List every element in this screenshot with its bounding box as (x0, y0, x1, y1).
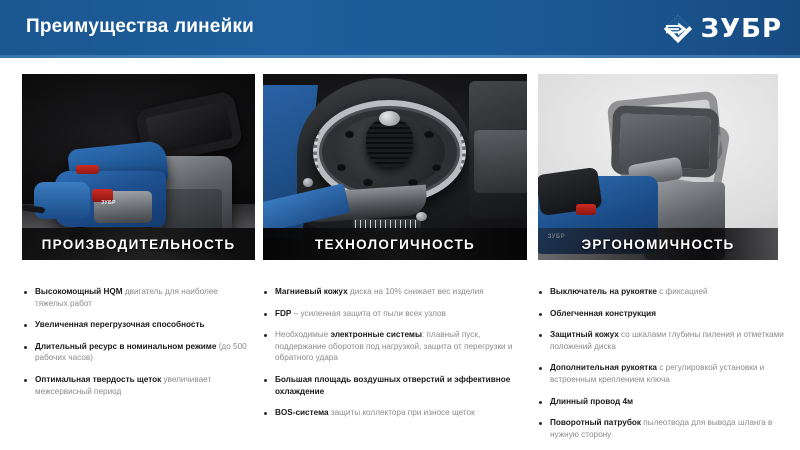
feature-bullet: Длительный ресурс в номинальном режиме (… (24, 341, 249, 364)
feature-panel-ergonomics: ЗУБР ЭРГОНОМИЧНОСТЬ (538, 74, 778, 260)
feature-bullet: Облегченная конструкция (539, 308, 789, 320)
feature-bullet-text: Магниевый кожух диска на 10% снижает вес… (275, 286, 524, 298)
page-title: Преимущества линейки (26, 16, 254, 38)
feature-bullet: Увеличенная перегрузочная способность (24, 319, 249, 331)
panel-caption-performance: ПРОИЗВОДИТЕЛЬНОСТЬ (22, 228, 255, 260)
feature-bullet-strong: Дополнительная рукоятка (550, 363, 657, 372)
feature-bullet-strong: Оптимальная твердость щеток (35, 375, 161, 384)
feature-bullet: Дополнительная рукоятка с регулировкой у… (539, 362, 789, 385)
feature-bullet-strong: FDP (275, 309, 291, 318)
feature-bullet-strong: Магниевый кожух (275, 287, 348, 296)
feature-bullet-text: Увеличенная перегрузочная способность (35, 319, 249, 331)
feature-bullet-text: Дополнительная рукоятка с регулировкой у… (550, 362, 789, 385)
panel-caption-technology: ТЕХНОЛОГИЧНОСТЬ (263, 228, 527, 260)
feature-bullet-text: Облегченная конструкция (550, 308, 789, 320)
feature-bullet: Защитный кожух со шкалами глубины пилени… (539, 329, 789, 352)
feature-bullet-text: Высокомощный HQM двигатель для наиболее … (35, 286, 249, 309)
feature-bullet-text: Большая площадь воздушных отверстий и эф… (275, 374, 524, 397)
feature-bullet: Поворотный патрубок пылеотвода для вывод… (539, 417, 789, 440)
feature-bullet-strong: электронные системы (331, 330, 422, 339)
feature-bullet-text: Поворотный патрубок пылеотвода для вывод… (550, 417, 789, 440)
feature-bullet: Длинный провод 4м (539, 396, 789, 408)
feature-bullet-strong: Поворотный патрубок (550, 418, 641, 427)
feature-bullet-strong: Выключатель на рукоятке (550, 287, 657, 296)
brand-logo-text: ЗУБР (701, 16, 782, 42)
panel-caption-ergonomics: ЭРГОНОМИЧНОСТЬ (538, 228, 778, 260)
feature-bullet-strong: Длинный провод 4м (550, 397, 633, 406)
feature-bullet-text: Выключатель на рукоятке с фиксацией (550, 286, 789, 298)
feature-bullet-strong: Облегченная конструкция (550, 309, 656, 318)
zubr-diamond-arrow-icon (662, 13, 694, 45)
feature-bullet-text: Оптимальная твердость щеток увеличивает … (35, 374, 249, 397)
feature-bullet-strong: Высокомощный HQM (35, 287, 123, 296)
feature-bullet-strong: Защитный кожух (550, 330, 619, 339)
feature-bullet: Необходимые электронные системы: плавный… (264, 329, 524, 364)
feature-bullet-strong: Большая площадь воздушных отверстий и эф… (275, 375, 510, 396)
feature-bullet-text: Защитный кожух со шкалами глубины пилени… (550, 329, 789, 352)
feature-list-technology: Магниевый кожух диска на 10% снижает вес… (264, 286, 524, 429)
feature-bullet: Высокомощный HQM двигатель для наиболее … (24, 286, 249, 309)
feature-list-performance: Высокомощный HQM двигатель для наиболее … (24, 286, 249, 407)
feature-bullet: Магниевый кожух диска на 10% снижает вес… (264, 286, 524, 298)
feature-bullet-strong: BOS-система (275, 408, 329, 417)
brand-logo: ЗУБР (662, 12, 782, 46)
feature-bullet: FDP – усиленная защита от пыли всех узло… (264, 308, 524, 320)
feature-bullet: Оптимальная твердость щеток увеличивает … (24, 374, 249, 397)
feature-bullet-text: FDP – усиленная защита от пыли всех узло… (275, 308, 524, 320)
feature-bullet-strong: Увеличенная перегрузочная способность (35, 320, 205, 329)
feature-panel-technology: ТЕХНОЛОГИЧНОСТЬ (263, 74, 527, 260)
feature-bullet-text: Необходимые электронные системы: плавный… (275, 329, 524, 364)
feature-bullet-text: BOS-система защиты коллектора при износе… (275, 407, 524, 419)
feature-list-ergonomics: Выключатель на рукоятке с фиксациейОблег… (539, 286, 789, 450)
feature-bullet-text: Длительный ресурс в номинальном режиме (… (35, 341, 249, 364)
page-header: Преимущества линейки ЗУБР (0, 0, 800, 58)
feature-bullet-strong: Длительный ресурс в номинальном режиме (35, 342, 216, 351)
photo-brand-mark: ЗУБР (101, 200, 116, 206)
feature-bullet-text: Длинный провод 4м (550, 396, 789, 408)
feature-bullet: Выключатель на рукоятке с фиксацией (539, 286, 789, 298)
feature-bullet: Большая площадь воздушных отверстий и эф… (264, 374, 524, 397)
feature-panel-performance: ЗУБР ПРОИЗВОДИТЕЛЬНОСТЬ (22, 74, 255, 260)
feature-bullet: BOS-система защиты коллектора при износе… (264, 407, 524, 419)
